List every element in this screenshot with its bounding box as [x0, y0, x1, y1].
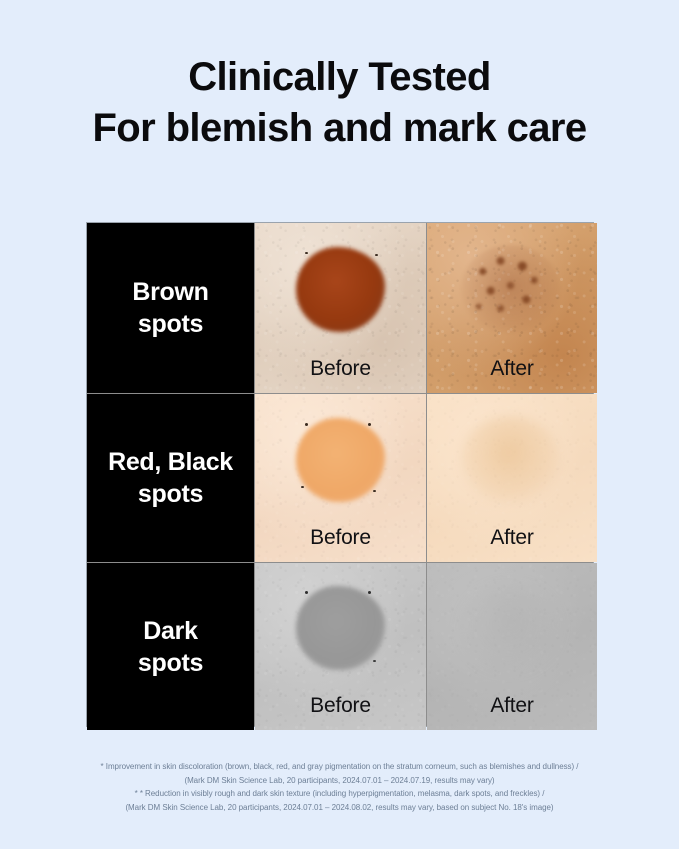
photo-caption-after: After	[427, 694, 597, 718]
photo-brown-spots-before: Before	[255, 223, 426, 393]
photo-brown-spots-after: After	[427, 223, 597, 393]
row-label-text: Red, Black spots	[108, 446, 233, 510]
row-label-brown-spots: Brown spots	[87, 223, 254, 393]
footnote-line: (Mark DM Skin Science Lab, 20 participan…	[0, 801, 679, 815]
photo-dark-spots-before: Before	[255, 563, 426, 730]
photo-dark-spots-after: After	[427, 563, 597, 730]
photo-caption-before: Before	[255, 526, 426, 550]
photo-red-black-spots-before: Before	[255, 394, 426, 562]
photo-caption-before: Before	[255, 357, 426, 381]
footnote-line: * * Reduction in visibly rough and dark …	[0, 787, 679, 801]
row-label-text: Brown spots	[132, 276, 208, 340]
photo-caption-after: After	[427, 357, 597, 381]
lesion-spot	[461, 416, 560, 503]
row-label-text: Dark spots	[138, 615, 203, 679]
page-title: Clinically Tested For blemish and mark c…	[0, 52, 679, 154]
row-label-red-black-spots: Red, Black spots	[87, 394, 254, 562]
photo-caption-after: After	[427, 526, 597, 550]
photo-red-black-spots-after: After	[427, 394, 597, 562]
photo-caption-before: Before	[255, 694, 426, 718]
footnotes: * Improvement in skin discoloration (bro…	[0, 760, 679, 814]
lesion-spot	[461, 585, 560, 672]
page-title-line-2: For blemish and mark care	[0, 102, 679, 154]
page-title-line-1: Clinically Tested	[0, 52, 679, 102]
footnote-line: (Mark DM Skin Science Lab, 20 participan…	[0, 774, 679, 788]
lesion-spot	[461, 245, 560, 333]
row-label-dark-spots: Dark spots	[87, 563, 254, 730]
before-after-comparison-table: Brown spots Before After Red, Black spot…	[86, 222, 594, 727]
footnote-line: * Improvement in skin discoloration (bro…	[0, 760, 679, 774]
